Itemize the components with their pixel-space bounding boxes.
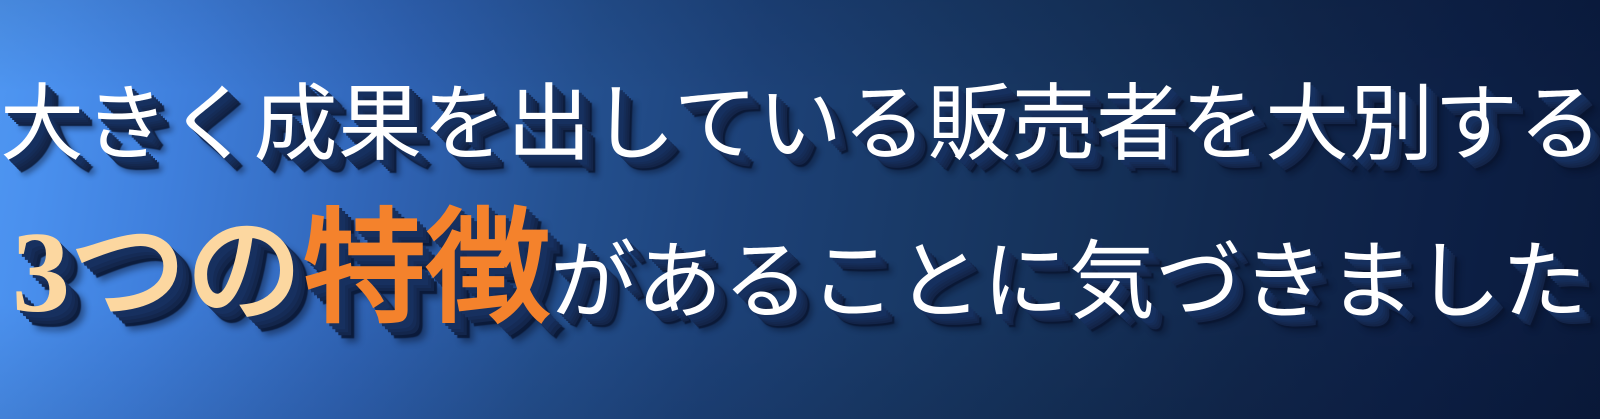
headline-line-1-text: 大きく成果を出している販売者を大別すると [0, 79, 1600, 172]
headline-segment-keyword: 特徴 [302, 208, 550, 332]
headline-segment-count: 3つの [12, 215, 302, 331]
headline-segment-tail: があることに気づきました [550, 239, 1588, 325]
headline-line-1: 大きく成果を出している販売者を大別すると [0, 84, 1600, 168]
headline-line-2: 3つの 特徴 があることに気づきました [0, 208, 1600, 332]
hero-banner: 大きく成果を出している販売者を大別すると 3つの 特徴 があることに気づきました [0, 0, 1600, 419]
